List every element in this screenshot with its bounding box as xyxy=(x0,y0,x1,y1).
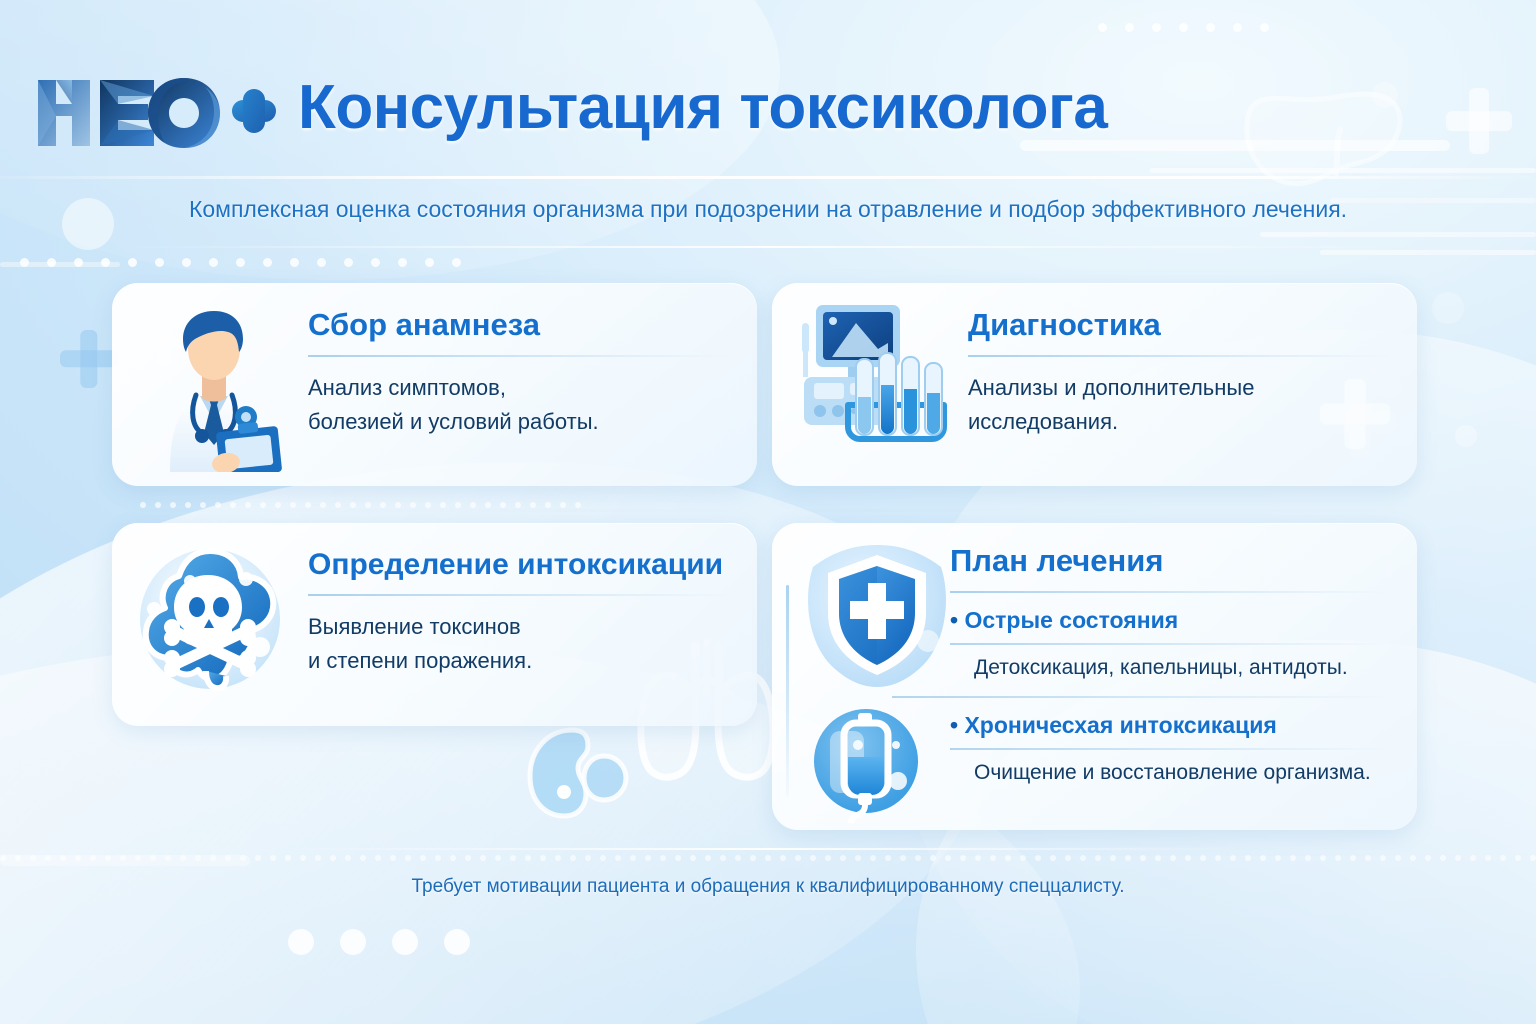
shield-cross-icon xyxy=(802,539,952,689)
background-stripe xyxy=(1320,250,1536,255)
page-subtitle: Комплексная оценка состояния организма п… xyxy=(0,196,1536,223)
card-title: Определение интоксикации xyxy=(308,549,733,581)
footer-note: Требует мотивации пациента и обращения к… xyxy=(0,876,1536,898)
card-treatment-plan[interactable]: План лечения • Острые состояния Детоксик… xyxy=(772,523,1417,830)
page-header: Консультация токсиколога xyxy=(0,0,1536,175)
kidney-outline-icon xyxy=(520,722,640,822)
card-text-line2: болезией и условий работы. xyxy=(308,405,733,439)
doctor-icon xyxy=(134,297,294,472)
dot-row xyxy=(0,855,1536,861)
card-text-line2: и степени поражения. xyxy=(308,644,733,678)
footer-divider xyxy=(290,848,1245,850)
plan-item-divider xyxy=(950,643,1393,645)
card-anamnesis[interactable]: Сбор анамнеза Анализ симптомов, болезией… xyxy=(112,283,757,486)
header-divider xyxy=(0,176,1536,179)
bullet-icon: • xyxy=(950,607,958,633)
skull-poison-icon xyxy=(134,537,294,712)
card-diagnostics[interactable]: Диагностика Анализы и дополнительные исс… xyxy=(772,283,1417,486)
plan-item-text: Детоксикация, капельницы, антидоты. xyxy=(950,656,1393,680)
plan-item-chronic: • Хроничесхая интоксикация Очищение и во… xyxy=(950,712,1393,785)
plan-rail xyxy=(786,585,789,797)
card-intoxication[interactable]: Определение интоксикации Выявление токси… xyxy=(112,523,757,726)
card-text-line1: Анализы и дополнительные xyxy=(968,371,1393,405)
card-divider xyxy=(308,355,733,357)
neo-plus-logo xyxy=(26,72,276,154)
card-text-line1: Выявление токсинов xyxy=(308,610,733,644)
plan-section-divider xyxy=(892,696,1393,698)
plan-item-text: Очищение и восстановление организма. xyxy=(950,761,1393,785)
plan-item-title: Хроничесхая интоксикация xyxy=(964,712,1276,738)
card-title: План лечения xyxy=(950,545,1393,578)
cross-icon xyxy=(60,330,118,388)
dot-row xyxy=(140,502,581,508)
lab-equipment-icon xyxy=(794,297,954,472)
card-divider xyxy=(950,591,1393,593)
decor-circle xyxy=(1455,425,1477,447)
card-title: Диагностика xyxy=(968,309,1393,342)
card-text-line1: Анализ симптомов, xyxy=(308,371,733,405)
dot-row xyxy=(20,258,461,267)
bullet-icon: • xyxy=(950,712,958,738)
background-stripe xyxy=(1260,232,1536,237)
plan-item-acute: • Острые состояния Детоксикация, капельн… xyxy=(950,607,1393,680)
card-body: Сбор анамнеза Анализ симптомов, болезией… xyxy=(308,309,733,439)
infographic-canvas: Консультация токсиколога Комплексная оце… xyxy=(0,0,1536,1024)
card-text-line2: исследования. xyxy=(968,405,1393,439)
card-body: Определение интоксикации Выявление токси… xyxy=(308,549,733,678)
subtitle-divider xyxy=(120,246,1420,248)
card-divider xyxy=(308,594,733,596)
plan-item-heading: • Острые состояния xyxy=(950,607,1393,634)
plan-item-title: Острые состояния xyxy=(964,607,1178,633)
page-title: Консультация токсиколога xyxy=(298,72,1107,143)
iv-drip-icon xyxy=(808,705,933,823)
plan-body: План лечения • Острые состояния Детоксик… xyxy=(950,545,1393,789)
dot-row xyxy=(288,929,470,955)
card-divider xyxy=(968,355,1393,357)
card-title: Сбор анамнеза xyxy=(308,309,733,342)
plan-item-divider xyxy=(950,748,1393,750)
decor-circle xyxy=(1432,292,1464,324)
plan-item-heading: • Хроничесхая интоксикация xyxy=(950,712,1393,739)
card-body: Диагностика Анализы и дополнительные исс… xyxy=(968,309,1393,439)
